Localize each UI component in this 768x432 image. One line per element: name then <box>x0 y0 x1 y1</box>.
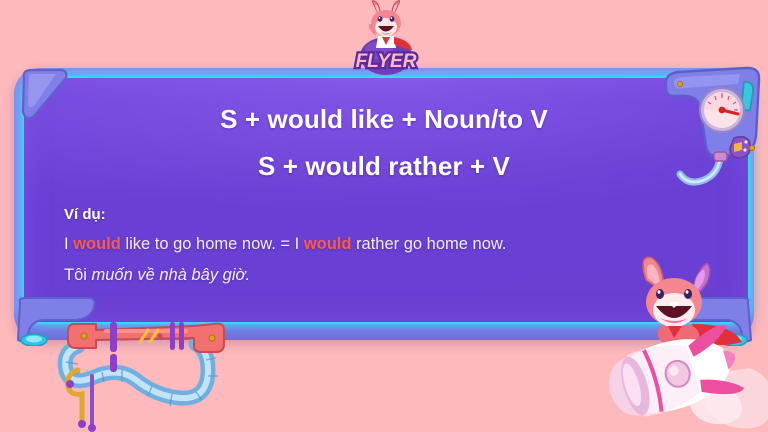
translation-prefix: Tôi <box>64 266 92 284</box>
example-block: Ví dụ: I would like to go home now. = I … <box>64 206 664 285</box>
highlighted-word: would <box>73 235 121 253</box>
formula-line-1: S + would like + Noun/to V <box>22 104 746 135</box>
sentence-fragment: rather go home now. <box>351 235 506 253</box>
translation-italic: muốn về nhà bây giờ. <box>92 266 251 284</box>
sentence-fragment: like to go home now. = I <box>121 235 304 253</box>
highlighted-word: would <box>304 235 352 253</box>
formula-line-2: S + would rather + V <box>22 151 746 182</box>
example-english-sentence: I would like to go home now. = I would r… <box>64 234 664 255</box>
sentence-fragment: I <box>64 235 73 253</box>
svg-text:FLYER: FLYER <box>356 51 417 72</box>
pressure-gauge-decoration <box>660 62 764 190</box>
flyer-logo: FLYER FLYER <box>334 0 438 76</box>
example-label: Ví dụ: <box>64 206 664 223</box>
rabbit-on-rocket-decoration <box>600 248 768 432</box>
grammar-formula: S + would like + Noun/to V S + would rat… <box>22 104 746 182</box>
hose-and-key-decoration <box>44 318 262 432</box>
slide-canvas: S + would like + Noun/to V S + would rat… <box>0 0 768 432</box>
example-vietnamese-translation: Tôi muốn về nhà bây giờ. <box>64 265 664 286</box>
